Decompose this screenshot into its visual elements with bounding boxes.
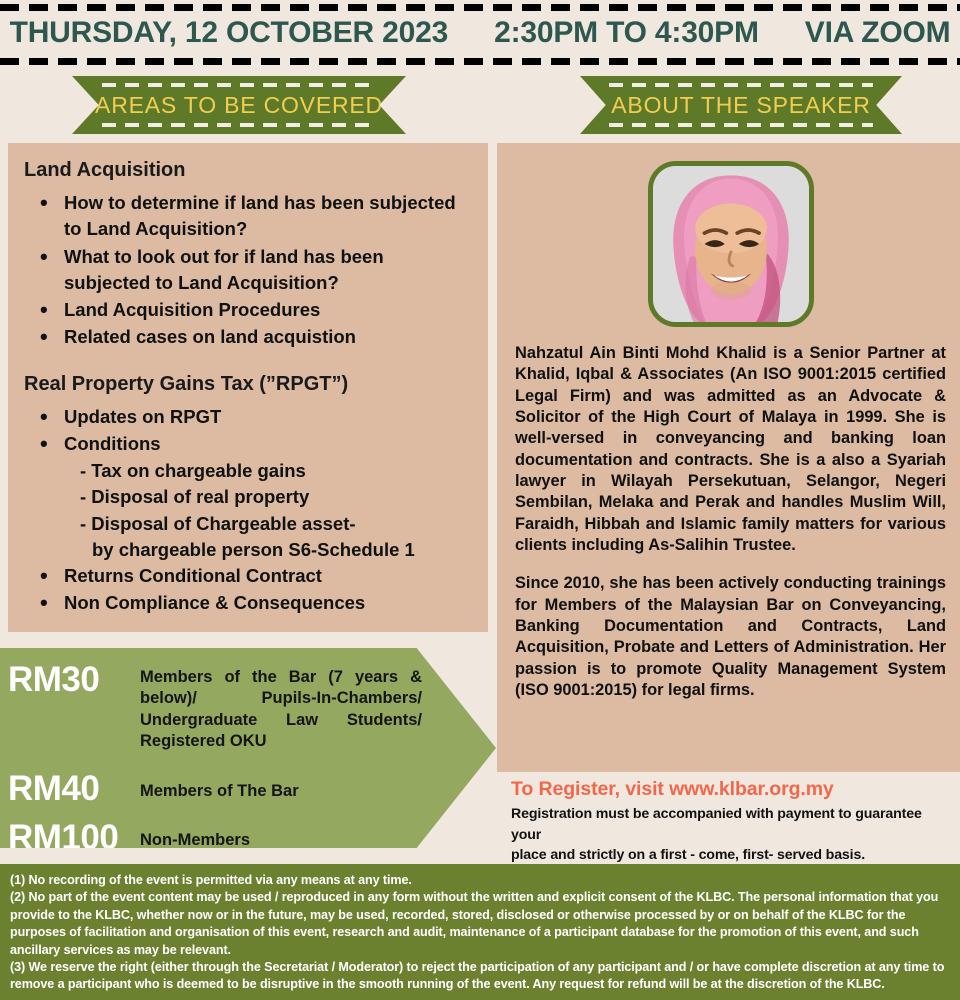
speaker-bio-paragraph-2: Since 2010, she has been actively conduc…	[515, 573, 946, 701]
list-item: What to look out for if land has been su…	[32, 244, 474, 297]
agenda-section-title-land-acquisition: Land Acquisition	[24, 159, 474, 182]
agenda-subitem-disposal-chargeable-asset: - Disposal of Chargeable asset-	[24, 511, 474, 537]
pricing-row-rm30: RM30 Members of the Bar (7 years & below…	[0, 660, 496, 753]
speaker-portrait-photo	[648, 161, 814, 327]
register-headline-link[interactable]: To Register, visit www.klbar.org.my	[511, 778, 950, 801]
ribbon-dash-top-right	[609, 83, 873, 87]
event-date: THURSDAY, 12 OCTOBER 2023	[10, 16, 449, 50]
pricing-row-rm100: RM100 Non-Members	[0, 818, 496, 858]
agenda-subitem-chargeable-person: by chargeable person S6-Schedule 1	[24, 537, 474, 563]
registration-block: To Register, visit www.klbar.org.my Regi…	[497, 772, 960, 863]
price-description: Members of the Bar (7 years & below)/ Pu…	[140, 660, 422, 753]
speaker-photo-wrapper	[515, 161, 946, 327]
price-description: Members of The Bar	[140, 769, 422, 802]
banner-right-label: ABOUT THE SPEAKER	[611, 92, 870, 119]
agenda-panel: Land Acquisition How to determine if lan…	[8, 143, 488, 632]
price-amount: RM100	[0, 818, 140, 858]
event-header-bar: THURSDAY, 12 OCTOBER 2023 2:30PM TO 4:30…	[0, 0, 960, 66]
register-note-line-1: Registration must be accompanied with pa…	[511, 804, 950, 845]
price-amount: RM30	[0, 660, 140, 700]
list-item: Returns Conditional Contract	[32, 563, 474, 589]
disclaimer-item-1: (1) No recording of the event is permitt…	[10, 872, 950, 889]
speaker-bio-paragraph-1: Nahzatul Ain Binti Mohd Khalid is a Seni…	[515, 343, 946, 556]
event-venue: VIA ZOOM	[805, 16, 951, 50]
disclaimer-item-3: (3) We reserve the right (either through…	[10, 959, 950, 994]
banner-areas-to-be-covered: AREAS TO BE COVERED	[72, 76, 406, 134]
event-header-items: THURSDAY, 12 OCTOBER 2023 2:30PM TO 4:30…	[0, 13, 960, 53]
price-amount: RM40	[0, 769, 140, 809]
event-time: 2:30PM TO 4:30PM	[494, 16, 759, 50]
ribbon-dash-bottom-left	[102, 123, 376, 127]
list-item: Related cases on land acquistion	[32, 324, 474, 350]
ribbon-dash-bottom-right	[609, 123, 873, 127]
list-item: How to determine if land has been subjec…	[32, 190, 474, 243]
speaker-panel: Nahzatul Ain Binti Mohd Khalid is a Seni…	[497, 143, 960, 863]
banner-left-label: AREAS TO BE COVERED	[95, 92, 383, 119]
list-item: Land Acquisition Procedures	[32, 297, 474, 323]
agenda-subitem-disposal-real-property: - Disposal of real property	[24, 484, 474, 510]
footer-disclaimer: (1) No recording of the event is permitt…	[0, 864, 960, 1000]
dashed-divider-bottom	[0, 58, 960, 65]
price-description: Non-Members	[140, 818, 422, 851]
section-banners: AREAS TO BE COVERED ABOUT THE SPEAKER	[0, 76, 960, 136]
dashed-divider-top	[0, 4, 960, 11]
list-item: Non Compliance & Consequences	[32, 590, 474, 616]
disclaimer-item-2: (2) No part of the event content may be …	[10, 889, 950, 959]
agenda-section-title-rpgt: Real Property Gains Tax (”RPGT”)	[24, 373, 474, 396]
agenda-list-land-acquisition: How to determine if land has been subjec…	[32, 190, 474, 351]
list-item: Updates on RPGT	[32, 404, 474, 430]
agenda-subitem-tax-on-chargeable-gains: - Tax on chargeable gains	[24, 458, 474, 484]
pricing-row-rm40: RM40 Members of The Bar	[0, 769, 496, 809]
banner-about-the-speaker: ABOUT THE SPEAKER	[580, 76, 902, 134]
list-item: Conditions	[32, 431, 474, 457]
pricing-arrow: RM30 Members of the Bar (7 years & below…	[0, 648, 496, 848]
agenda-list-rpgt: Updates on RPGT Conditions	[32, 404, 474, 458]
ribbon-dash-top-left	[102, 83, 376, 87]
agenda-list-rpgt-tail: Returns Conditional Contract Non Complia…	[32, 563, 474, 617]
